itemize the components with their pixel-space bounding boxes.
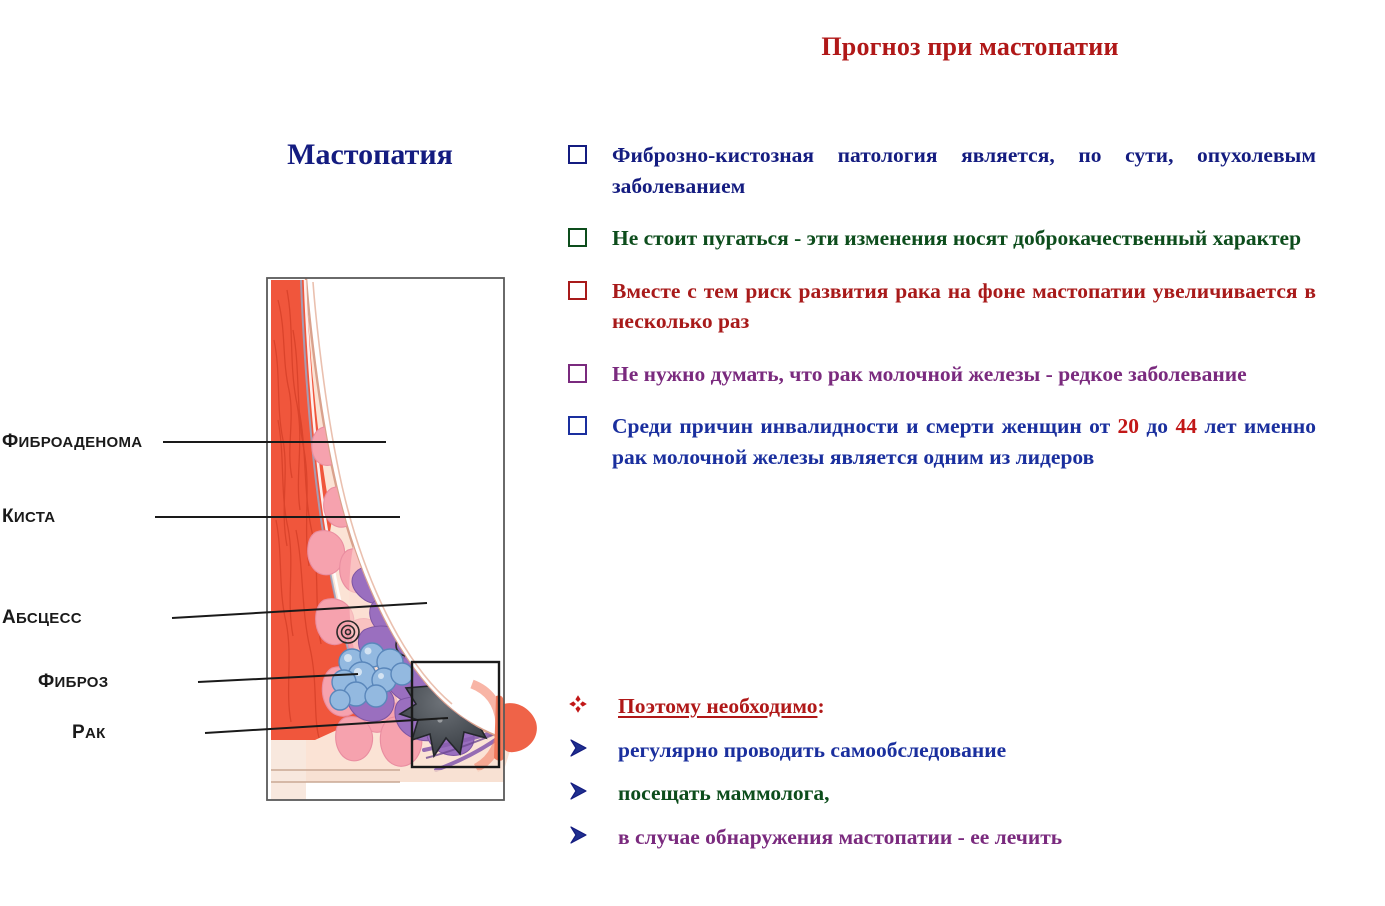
label-fibrosis: ФИБРОЗ — [38, 671, 108, 693]
label-cyst: КИСТА — [2, 506, 55, 528]
section-heading-mastopathy: Мастопатия — [160, 138, 580, 172]
label-fibrosis-initial: Ф — [38, 671, 55, 692]
label-abscess-initial: А — [2, 607, 16, 628]
label-cyst-rest: ИСТА — [14, 509, 56, 526]
bullet-item-4: Не нужно думать, что рак молочной железы… — [568, 359, 1316, 390]
hollow-square-bullet-icon — [568, 223, 612, 251]
statistic-age-from: 20 — [1118, 414, 1140, 438]
label-fibroadenoma-initial: Ф — [2, 431, 19, 452]
bullet-item-5: Среди причин инвалидности и смерти женщи… — [568, 411, 1316, 472]
bullet-text-3: Вместе с тем риск развития рака на фоне … — [612, 276, 1316, 337]
conclusion-item-2: посещать маммолога, — [568, 779, 1316, 809]
statistic-segment-1: Среди причин инвалидности и смерти женщи… — [612, 414, 1118, 438]
bullet-list: Фиброзно-кистозная патология является, п… — [568, 140, 1316, 494]
bullet-item-2: Не стоит пугаться - эти изменения носят … — [568, 223, 1316, 254]
bullet-text-5: Среди причин инвалидности и смерти женщи… — [612, 411, 1316, 472]
label-cancer-rest: АК — [85, 725, 106, 742]
conclusion-heading-colon: : — [817, 694, 824, 718]
label-cancer: РАК — [72, 722, 106, 744]
slide-root: Прогноз при мастопатии Мастопатия — [0, 0, 1385, 906]
label-cyst-initial: К — [2, 506, 14, 527]
label-fibroadenoma-rest: ИБРОАДЕНОМА — [19, 434, 143, 451]
statistic-segment-2: до — [1139, 414, 1175, 438]
conclusion-block: Поэтому необходимо: регулярно проводить … — [568, 692, 1316, 867]
arrow-bullet-icon — [568, 823, 618, 849]
bullet-text-1: Фиброзно-кистозная патология является, п… — [612, 140, 1316, 201]
conclusion-heading-row: Поэтому необходимо: — [568, 692, 1316, 722]
hollow-square-bullet-icon — [568, 359, 612, 387]
conclusion-item-1-text: регулярно проводить самообследование — [618, 736, 1316, 766]
statistic-age-to: 44 — [1175, 414, 1197, 438]
label-cancer-initial: Р — [72, 722, 85, 743]
conclusion-item-3-text: в случае обнаружения мастопатии - ее леч… — [618, 823, 1316, 853]
page-title: Прогноз при мастопатии — [620, 32, 1320, 62]
conclusion-heading-label: Поэтому необходимо — [618, 694, 817, 718]
hollow-square-bullet-icon — [568, 276, 612, 304]
diamond-bullet-icon — [568, 692, 618, 718]
bullet-item-3: Вместе с тем риск развития рака на фоне … — [568, 276, 1316, 337]
bullet-text-4: Не нужно думать, что рак молочной железы… — [612, 359, 1316, 390]
hollow-square-bullet-icon — [568, 411, 612, 439]
conclusion-item-2-text: посещать маммолога, — [618, 779, 1316, 809]
arrow-bullet-icon — [568, 779, 618, 805]
breast-cross-section-diagram: ФИБРОАДЕНОМА КИСТА АБСЦЕСС ФИБРОЗ РАК — [100, 270, 620, 830]
conclusion-item-3: в случае обнаружения мастопатии - ее леч… — [568, 823, 1316, 853]
label-abscess: АБСЦЕСС — [2, 607, 82, 629]
conclusion-heading-text: Поэтому необходимо: — [618, 692, 1316, 722]
conclusion-item-1: регулярно проводить самообследование — [568, 736, 1316, 766]
hollow-square-bullet-icon — [568, 140, 612, 168]
label-abscess-rest: БСЦЕСС — [16, 610, 82, 627]
bullet-item-1: Фиброзно-кистозная патология является, п… — [568, 140, 1316, 201]
label-fibroadenoma: ФИБРОАДЕНОМА — [2, 431, 142, 453]
arrow-bullet-icon — [568, 736, 618, 762]
bullet-text-2: Не стоит пугаться - эти изменения носят … — [612, 223, 1316, 254]
label-fibrosis-rest: ИБРОЗ — [55, 674, 109, 691]
